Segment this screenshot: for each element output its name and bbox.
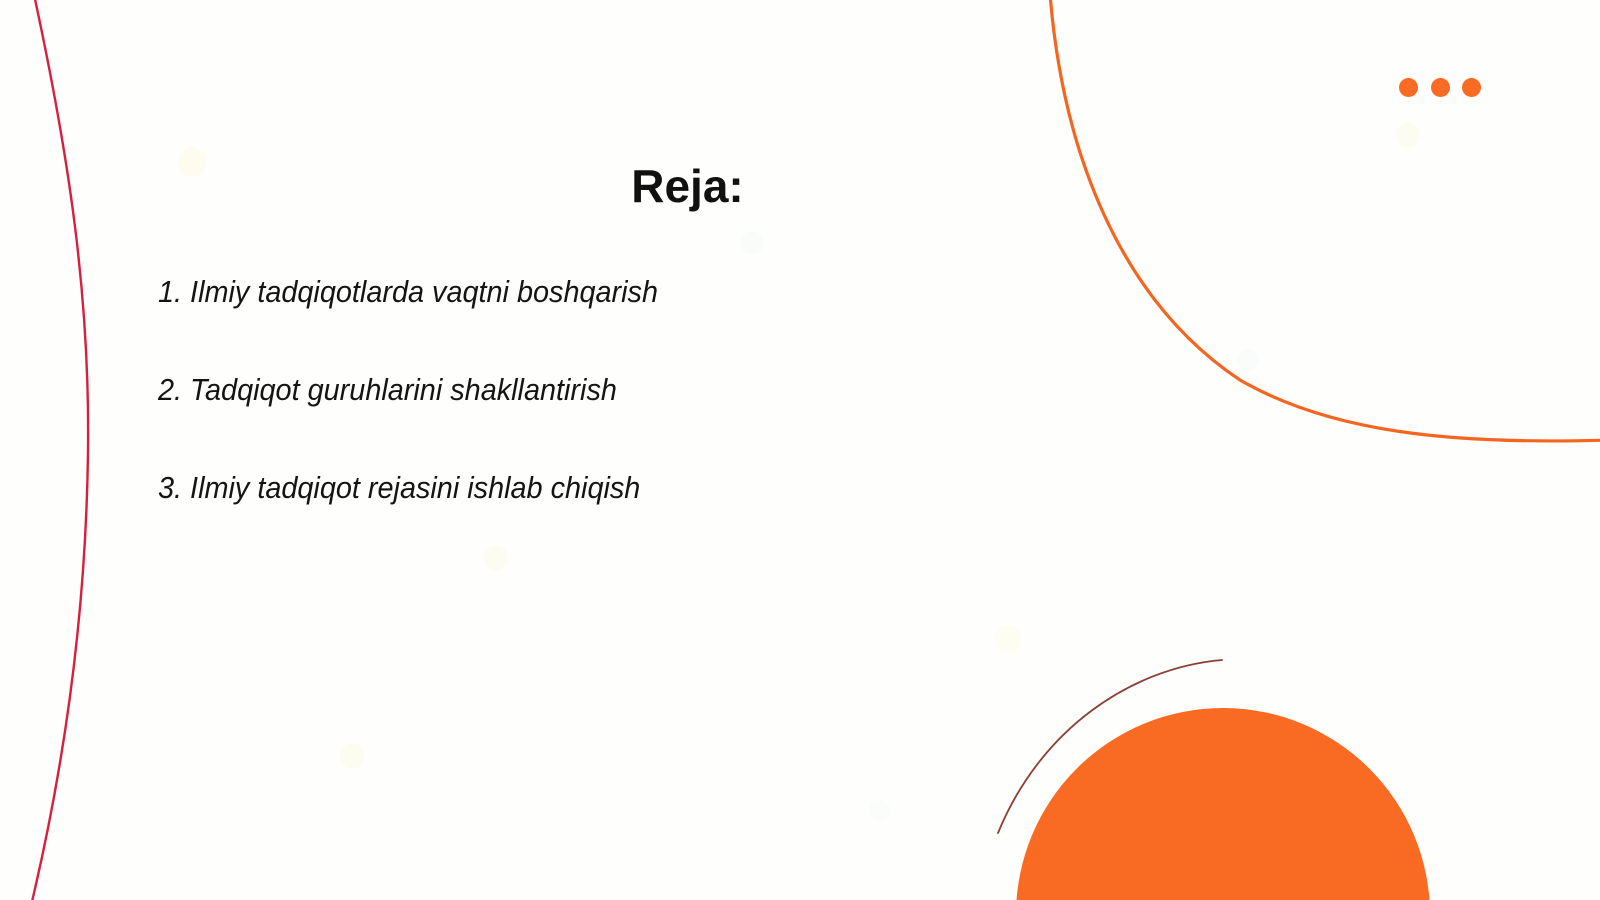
left-crimson-arc	[30, 0, 88, 900]
agenda-item-2: 2. Tadqiqot guruhlarini shakllantirish	[158, 374, 902, 405]
agenda-item-3: 3. Ilmiy tadqiqot rejasini ishlab chiqis…	[158, 472, 902, 503]
orange-dot-2	[1431, 78, 1450, 97]
agenda-list: 1. Ilmiy tadqiqotlarda vaqtni boshqarish…	[158, 276, 958, 503]
orange-disc-shape	[1016, 708, 1430, 900]
slide-title: Reja:	[0, 161, 1375, 212]
top-right-orange-arc	[1049, 0, 1600, 441]
agenda-item-1: 1. Ilmiy tadqiqotlarda vaqtni boshqarish	[158, 276, 902, 307]
orange-dot-3	[1462, 78, 1481, 97]
orange-dot-1	[1399, 78, 1418, 97]
slide-canvas: Reja: 1. Ilmiy tadqiqotlarda vaqtni bosh…	[0, 0, 1600, 900]
